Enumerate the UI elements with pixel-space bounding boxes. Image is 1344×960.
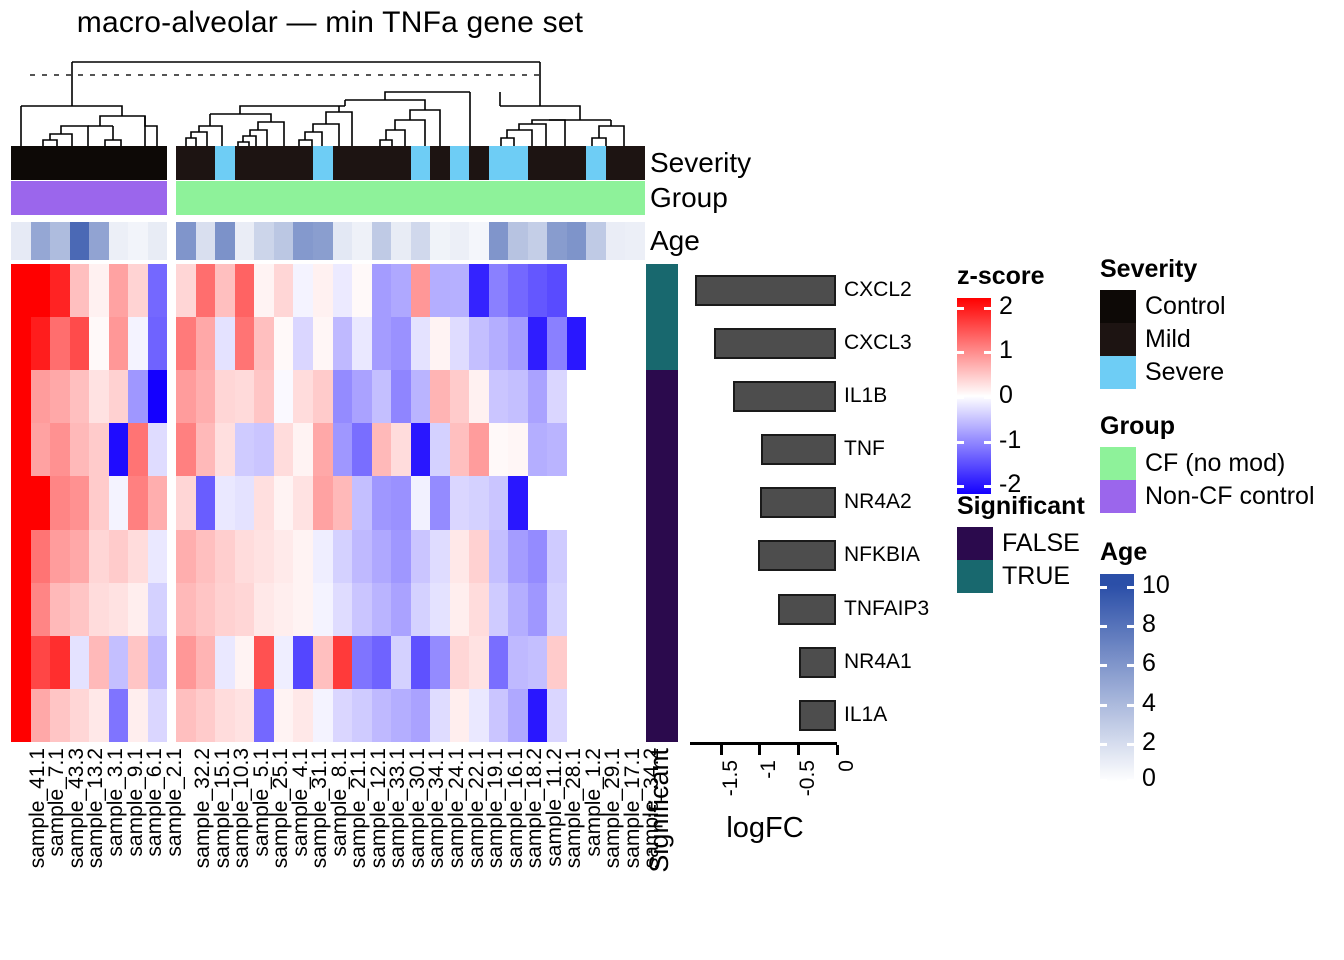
severity-cell	[254, 146, 274, 180]
heatmap-cell	[489, 583, 509, 636]
heatmap-row	[11, 583, 645, 636]
heatmap-cell	[411, 370, 431, 423]
heatmap-cell	[508, 583, 528, 636]
heatmap-cell	[274, 317, 294, 370]
age-colorbar-tick-label: 0	[1142, 763, 1156, 793]
heatmap-cell	[352, 636, 372, 689]
logfc-axis-label: logFC	[690, 812, 840, 845]
group-cell	[254, 181, 274, 215]
heatmap-cell	[109, 476, 129, 529]
severity-cell	[489, 146, 509, 180]
heatmap-cell	[625, 423, 645, 476]
severity-cell	[148, 146, 168, 180]
gene-label: IL1A	[844, 699, 887, 731]
group-cell	[489, 181, 509, 215]
age-cell	[547, 222, 567, 260]
logfc-bar	[714, 328, 836, 359]
heatmap-cell	[489, 423, 509, 476]
heatmap-gap	[167, 264, 176, 317]
severity-cell	[293, 146, 313, 180]
age-cell	[254, 222, 274, 260]
heatmap-cell	[352, 530, 372, 583]
heatmap-cell	[352, 317, 372, 370]
heatmap-cell	[391, 583, 411, 636]
age-cell	[50, 222, 70, 260]
heatmap-cell	[450, 583, 470, 636]
age-colorbar-tick: 4	[1100, 704, 1134, 707]
heatmap-cell	[109, 423, 129, 476]
group-cell	[469, 181, 489, 215]
severity-cell	[606, 146, 626, 180]
severity-cell	[625, 146, 645, 180]
heatmap-cell	[391, 423, 411, 476]
group-cell	[567, 181, 587, 215]
heatmap-row	[11, 370, 645, 423]
heatmap-cell	[128, 636, 148, 689]
heatmap-cell	[176, 476, 196, 529]
group-cell	[274, 181, 294, 215]
heatmap-cell	[586, 583, 606, 636]
heatmap-cell	[70, 370, 90, 423]
age-cell	[469, 222, 489, 260]
zscore-colorbar-tick-label: -1	[999, 425, 1021, 455]
heatmap-gap	[167, 370, 176, 423]
gene-label: NFKBIA	[844, 539, 920, 571]
heatmap-cell	[11, 583, 31, 636]
heatmap-cell	[489, 476, 509, 529]
heatmap-cell	[313, 530, 333, 583]
heatmap-cell	[547, 370, 567, 423]
heatmap-cell	[70, 530, 90, 583]
heatmap-cell	[274, 423, 294, 476]
legend-significant: Significant FALSETRUE	[957, 492, 1085, 593]
heatmap-cell	[430, 636, 450, 689]
axis-tick	[758, 745, 761, 755]
severity-row-label: Severity	[650, 146, 751, 180]
heatmap-cell	[586, 370, 606, 423]
group-legend-item: Non-CF control	[1100, 480, 1315, 513]
heatmap-cell	[567, 423, 587, 476]
severity-cell	[352, 146, 372, 180]
severity-legend-item: Control	[1100, 290, 1226, 323]
logfc-bar-chart: CXCL2CXCL3IL1BTNFNR4A2NFKBIATNFAIP3NR4A1…	[690, 264, 940, 742]
heatmap-cell	[235, 636, 255, 689]
heatmap-cell	[148, 583, 168, 636]
heatmap-cell	[567, 317, 587, 370]
heatmap-cell	[235, 317, 255, 370]
age-cell	[333, 222, 353, 260]
significant-legend-label: TRUE	[1002, 562, 1070, 591]
heatmap-cell	[196, 583, 216, 636]
severity-swatch	[1100, 323, 1136, 356]
heatmap-cell	[128, 583, 148, 636]
heatmap-cell	[70, 317, 90, 370]
heatmap-cell	[586, 317, 606, 370]
significant-cell	[646, 317, 678, 370]
age-colorbar-tick-label: 4	[1142, 688, 1156, 718]
legend-age: Age 1086420	[1100, 538, 1147, 782]
heatmap-row	[11, 636, 645, 689]
heatmap-cell	[430, 317, 450, 370]
significant-swatch	[957, 527, 993, 560]
group-cell	[109, 181, 129, 215]
severity-cell	[391, 146, 411, 180]
heatmap-cell	[196, 370, 216, 423]
heatmap-cell	[254, 476, 274, 529]
legend-severity: Severity ControlMildSevere	[1100, 255, 1226, 389]
heatmap-cell	[352, 264, 372, 317]
gene-label: NR4A1	[844, 646, 912, 678]
age-cell	[274, 222, 294, 260]
heatmap-cell	[215, 423, 235, 476]
heatmap-cell	[450, 689, 470, 742]
heatmap-cell	[89, 317, 109, 370]
heatmap-cell	[196, 530, 216, 583]
group-cell	[450, 181, 470, 215]
heatmap-cell	[89, 689, 109, 742]
heatmap-cell	[128, 264, 148, 317]
heatmap-cell	[313, 317, 333, 370]
significant-cell	[646, 476, 678, 529]
group-cell	[586, 181, 606, 215]
heatmap-cell	[313, 689, 333, 742]
heatmap-cell	[528, 530, 548, 583]
group-cell	[528, 181, 548, 215]
legend-group-title: Group	[1100, 412, 1315, 441]
heatmap-cell	[372, 317, 392, 370]
heatmap-cell	[31, 370, 51, 423]
heatmap-cell	[50, 423, 70, 476]
age-cell	[70, 222, 90, 260]
age-cell	[508, 222, 528, 260]
heatmap-cell	[430, 423, 450, 476]
legend-zscore: z-score 210-1-2	[957, 262, 1045, 494]
gene-label: TNF	[844, 433, 885, 465]
heatmap-cell	[469, 370, 489, 423]
heatmap-cell	[89, 636, 109, 689]
heatmap-cell	[547, 423, 567, 476]
legend-age-title: Age	[1100, 538, 1147, 567]
heatmap-cell	[508, 264, 528, 317]
heatmap-cell	[293, 264, 313, 317]
heatmap-cell	[196, 264, 216, 317]
bar-row: NR4A1	[690, 636, 940, 689]
gene-label: TNFAIP3	[844, 593, 929, 625]
severity-cell	[274, 146, 294, 180]
age-colorbar-tick-label: 6	[1142, 648, 1156, 678]
heatmap-cell	[109, 317, 129, 370]
heatmap-cell	[411, 530, 431, 583]
heatmap-cell	[293, 636, 313, 689]
bar-row: IL1B	[690, 370, 940, 423]
heatmap-cell	[372, 583, 392, 636]
heatmap-cell	[89, 530, 109, 583]
sample-label: sample_2.1	[163, 748, 187, 857]
group-legend-label: Non-CF control	[1145, 482, 1315, 511]
heatmap-cell	[196, 689, 216, 742]
heatmap-cell	[89, 423, 109, 476]
group-cell	[411, 181, 431, 215]
heatmap-cell	[547, 689, 567, 742]
heatmap-cell	[625, 370, 645, 423]
heatmap-cell	[50, 530, 70, 583]
heatmap-cell	[411, 476, 431, 529]
gene-label: CXCL3	[844, 327, 912, 359]
heatmap-cell	[31, 689, 51, 742]
heatmap-cell	[450, 476, 470, 529]
heatmap-cell	[313, 636, 333, 689]
heatmap-cell	[391, 476, 411, 529]
heatmap-cell	[31, 317, 51, 370]
age-cell	[176, 222, 196, 260]
heatmap-cell	[31, 636, 51, 689]
age-cell	[625, 222, 645, 260]
age-cell	[109, 222, 129, 260]
heatmap-cell	[625, 583, 645, 636]
bar-row: NFKBIA	[690, 529, 940, 582]
heatmap-cell	[215, 689, 235, 742]
heatmap-cell	[50, 317, 70, 370]
heatmap-cell	[372, 423, 392, 476]
age-cell	[215, 222, 235, 260]
heatmap-gap	[167, 476, 176, 529]
heatmap-cell	[352, 583, 372, 636]
heatmap-cell	[176, 317, 196, 370]
heatmap-cell	[333, 583, 353, 636]
heatmap-cell	[508, 530, 528, 583]
heatmap-cell	[528, 264, 548, 317]
heatmap-cell	[391, 370, 411, 423]
heatmap-cell	[254, 370, 274, 423]
age-colorbar-tick: 2	[1100, 743, 1134, 746]
legend-zscore-title: z-score	[957, 262, 1045, 291]
heatmap-cell	[508, 476, 528, 529]
heatmap-cell	[450, 370, 470, 423]
heatmap-gap	[167, 636, 176, 689]
age-cell	[606, 222, 626, 260]
heatmap-cell	[254, 636, 274, 689]
age-colorbar-tick: 8	[1100, 625, 1134, 628]
logfc-bar	[778, 594, 836, 625]
group-cell	[148, 181, 168, 215]
group-cell	[333, 181, 353, 215]
axis-tick	[797, 745, 800, 755]
heatmap-cell	[430, 689, 450, 742]
heatmap-cell	[450, 264, 470, 317]
heatmap-cell	[176, 530, 196, 583]
heatmap-cell	[89, 370, 109, 423]
gene-label: IL1B	[844, 380, 887, 412]
significant-cell	[646, 370, 678, 423]
heatmap-cell	[254, 530, 274, 583]
bar-row: NR4A2	[690, 476, 940, 529]
heatmap-cell	[567, 530, 587, 583]
heatmap-cell	[528, 476, 548, 529]
sample-label: sample_34.2	[640, 748, 664, 868]
heatmap-cell	[50, 370, 70, 423]
heatmap-row	[11, 530, 645, 583]
heatmap-cell	[625, 476, 645, 529]
heatmap-cell	[50, 264, 70, 317]
age-cell	[411, 222, 431, 260]
heatmap-cell	[430, 530, 450, 583]
heatmap-cell	[235, 423, 255, 476]
group-cell	[372, 181, 392, 215]
heatmap-cell	[528, 583, 548, 636]
heatmap-cell	[196, 476, 216, 529]
heatmap-cell	[11, 530, 31, 583]
severity-legend-item: Mild	[1100, 323, 1226, 356]
group-cell	[235, 181, 255, 215]
axis-tick-label: 0	[835, 760, 859, 772]
heatmap-cell	[215, 530, 235, 583]
axis-line	[690, 742, 837, 745]
heatmap-cell	[411, 583, 431, 636]
group-cell	[176, 181, 196, 215]
heatmap-cell	[606, 264, 626, 317]
heatmap-cell	[489, 317, 509, 370]
heatmap-cell	[11, 476, 31, 529]
heatmap-cell	[450, 423, 470, 476]
logfc-bar	[695, 275, 836, 306]
group-row-label: Group	[650, 181, 728, 215]
heatmap-cell	[254, 264, 274, 317]
heatmap-cell	[508, 423, 528, 476]
gene-label: CXCL2	[844, 274, 912, 306]
heatmap-cell	[109, 689, 129, 742]
group-cell	[352, 181, 372, 215]
logfc-bar	[733, 381, 836, 412]
heatmap-cell	[547, 583, 567, 636]
age-colorbar	[1100, 574, 1134, 782]
age-cell	[567, 222, 587, 260]
severity-cell	[586, 146, 606, 180]
group-cell	[625, 181, 645, 215]
group-legend-label: CF (no mod)	[1145, 449, 1285, 478]
annotation-row-age: Age	[0, 222, 660, 260]
heatmap-row	[11, 689, 645, 742]
logfc-bar	[760, 487, 836, 518]
gene-label: NR4A2	[844, 486, 912, 518]
heatmap-row	[11, 317, 645, 370]
significant-cell	[646, 423, 678, 476]
severity-cell	[235, 146, 255, 180]
heatmap-cell	[469, 689, 489, 742]
zscore-colorbar-tick: 0	[957, 396, 991, 399]
heatmap-cell	[313, 583, 333, 636]
bar-row: TNFAIP3	[690, 583, 940, 636]
heatmap-cell	[70, 423, 90, 476]
heatmap-cell	[235, 476, 255, 529]
heatmap-cell	[567, 476, 587, 529]
heatmap-gap	[167, 530, 176, 583]
heatmap-cell	[528, 636, 548, 689]
age-cell	[450, 222, 470, 260]
heatmap-cell	[148, 476, 168, 529]
heatmap-cell	[567, 636, 587, 689]
bar-row: CXCL3	[690, 317, 940, 370]
heatmap-cell	[508, 370, 528, 423]
heatmap-gap	[167, 689, 176, 742]
group-swatch	[1100, 480, 1136, 513]
bar-row: IL1A	[690, 689, 940, 742]
heatmap-cell	[586, 530, 606, 583]
group-cell	[547, 181, 567, 215]
severity-cell	[547, 146, 567, 180]
heatmap-cell	[109, 264, 129, 317]
significant-legend-item: TRUE	[957, 560, 1085, 593]
heatmap-cell	[274, 264, 294, 317]
heatmap-cell	[606, 317, 626, 370]
severity-cell	[176, 146, 196, 180]
heatmap-cell	[469, 317, 489, 370]
group-cell	[128, 181, 148, 215]
heatmap-cell	[391, 689, 411, 742]
heatmap-cell	[625, 264, 645, 317]
significant-cell	[646, 689, 678, 742]
heatmap-cell	[528, 689, 548, 742]
group-cell	[31, 181, 51, 215]
heatmap-cell	[11, 689, 31, 742]
heatmap-cell	[293, 689, 313, 742]
logfc-axis: -1.5-1-0.50	[690, 742, 940, 754]
group-cell	[508, 181, 528, 215]
heatmap-cell	[148, 370, 168, 423]
heatmap-cell	[411, 423, 431, 476]
age-cell	[89, 222, 109, 260]
age-colorbar-tick: 10	[1100, 586, 1134, 589]
heatmap-cell	[333, 636, 353, 689]
age-row-label: Age	[650, 222, 700, 260]
heatmap-cell	[11, 423, 31, 476]
heatmap-cell	[372, 370, 392, 423]
heatmap-cell	[313, 423, 333, 476]
heatmap-cell	[176, 636, 196, 689]
heatmap-cell	[89, 583, 109, 636]
heatmap-cell	[567, 689, 587, 742]
heatmap-cell	[333, 476, 353, 529]
heatmap-cell	[352, 423, 372, 476]
heatmap-cell	[176, 583, 196, 636]
heatmap-cell	[586, 423, 606, 476]
heatmap-cell	[215, 370, 235, 423]
heatmap-cell	[31, 583, 51, 636]
heatmap-cell	[128, 370, 148, 423]
severity-legend-label: Control	[1145, 292, 1226, 321]
heatmap-cell	[411, 264, 431, 317]
heatmap-cell	[547, 476, 567, 529]
heatmap-cell	[567, 264, 587, 317]
heatmap-cell	[235, 370, 255, 423]
severity-cell	[469, 146, 489, 180]
severity-cell	[215, 146, 235, 180]
heatmap-cell	[148, 317, 168, 370]
axis-tick-label: -1	[757, 760, 781, 779]
heatmap-cell	[215, 583, 235, 636]
heatmap-cell	[11, 370, 31, 423]
heatmap-cell	[148, 530, 168, 583]
heatmap-cell	[469, 530, 489, 583]
severity-swatch	[1100, 290, 1136, 323]
severity-cell	[70, 146, 90, 180]
page-title: macro-alveolar — min TNFa gene set	[0, 6, 660, 40]
heatmap-cell	[469, 423, 489, 476]
group-cell	[70, 181, 90, 215]
heatmap-cell	[547, 530, 567, 583]
heatmap-cell	[293, 530, 313, 583]
heatmap-cell	[469, 264, 489, 317]
heatmap-cell	[176, 264, 196, 317]
